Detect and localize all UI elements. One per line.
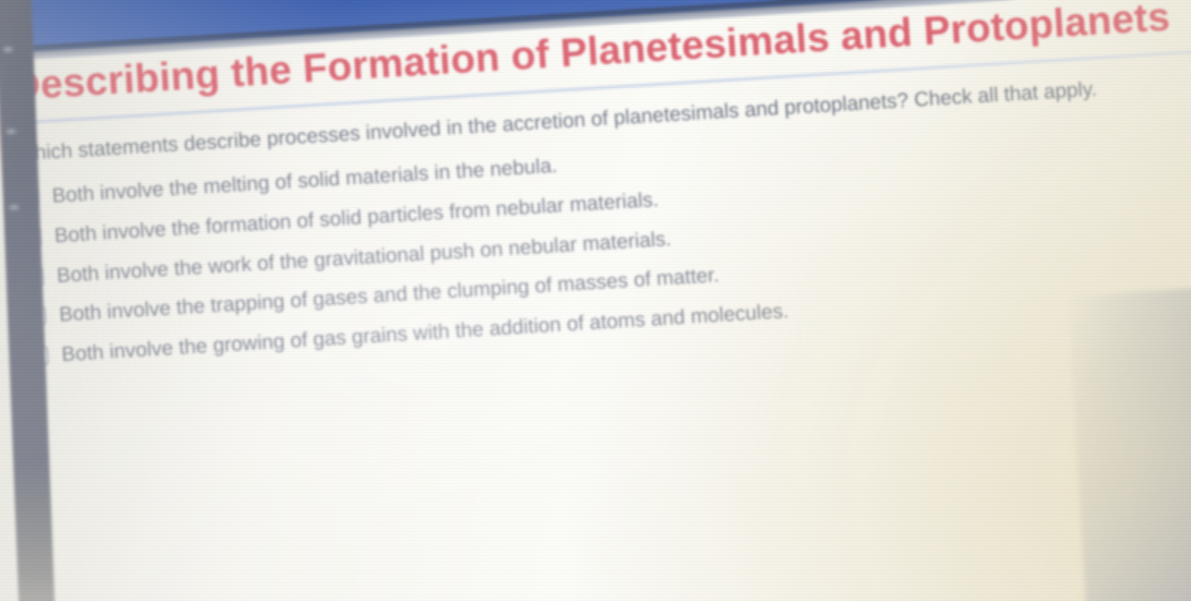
chrome-toolbar-icon[interactable] [3, 47, 12, 51]
chrome-toolbar-icon[interactable] [7, 129, 16, 133]
browser-viewport: Describing the Formation of Planetesimal… [0, 0, 1191, 601]
screen-photo: Describing the Formation of Planetesimal… [0, 0, 1191, 601]
chrome-toolbar-icon[interactable] [9, 205, 18, 209]
monitor-bezel-right [1067, 287, 1191, 601]
